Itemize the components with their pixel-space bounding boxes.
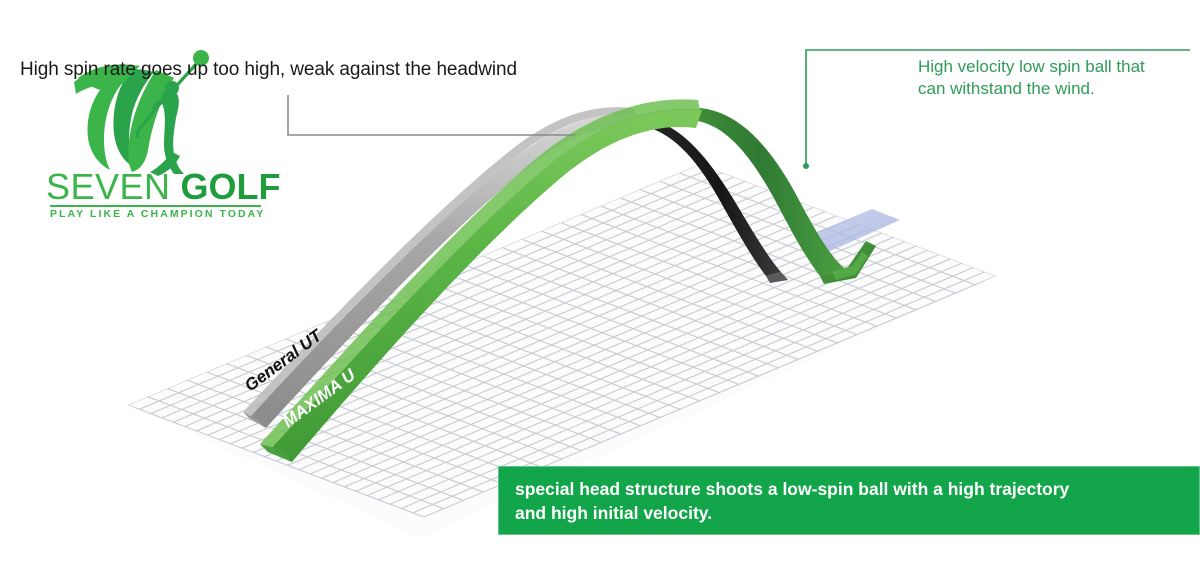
- banner-line1: special head structure shoots a low-spin…: [515, 477, 1183, 501]
- logo-wordmark: SEVEN GOLF: [46, 166, 266, 202]
- bottom-banner: special head structure shoots a low-spin…: [498, 466, 1200, 535]
- callout-left: [288, 95, 575, 135]
- logo-divider: [50, 205, 261, 207]
- logo-word-seven: SEVEN: [46, 166, 171, 207]
- banner-line2: and high initial velocity.: [515, 501, 1183, 525]
- logo-word-golf: GOLF: [171, 166, 281, 207]
- right-annotation-line2: can withstand the wind.: [918, 78, 1190, 100]
- logo-tagline: PLAY LIKE A CHAMPION TODAY: [50, 208, 265, 220]
- right-annotation: High velocity low spin ball that can wit…: [918, 56, 1190, 100]
- headline-text: High spin rate goes up too high, weak ag…: [20, 58, 517, 82]
- right-annotation-line1: High velocity low spin ball that: [918, 57, 1145, 76]
- infographic-canvas: General UT MAXIMA U High spin rate goes …: [0, 0, 1200, 570]
